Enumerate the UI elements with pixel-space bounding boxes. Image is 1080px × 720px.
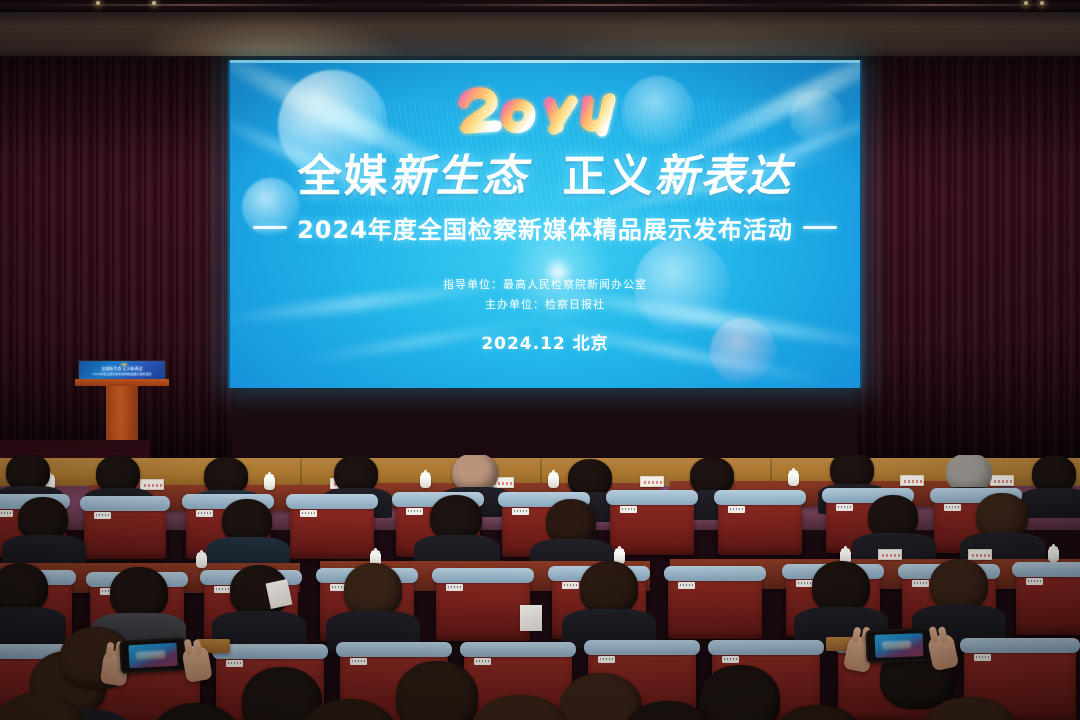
podium-led-display: 全媒新生态 正义新表达 2024年度全国检察新媒体精品展示发布活动 (78, 360, 166, 380)
rig-bar (40, 4, 340, 6)
date-location-line: 2024.12 北京 (443, 329, 647, 354)
title-segment-accent-2: 新表达 (654, 151, 792, 202)
attendee-head (812, 561, 870, 613)
seat-number-plate (974, 654, 991, 661)
seat-number-plate (678, 582, 695, 589)
title-segment-accent-1: 新生态 (390, 151, 528, 202)
teacup (264, 477, 275, 490)
screen-subtitle: 2024年度全国检察新媒体精品展示发布活动 (297, 210, 793, 245)
attendee-head (930, 559, 988, 611)
attendee-head (396, 661, 478, 720)
auditorium-seat (1016, 569, 1080, 635)
teacup (1048, 549, 1059, 562)
screen-main-title: 全媒新生态 正义新表达 (298, 140, 793, 204)
rig-bar (420, 4, 780, 6)
auditorium-seat (290, 501, 374, 559)
seat-number-plate (836, 504, 853, 511)
auditorium-seat (436, 575, 530, 641)
seat-headrest (714, 490, 806, 505)
finger (105, 642, 114, 659)
phone-screen (875, 633, 924, 658)
name-placard (900, 475, 924, 486)
seat-number-plate (474, 658, 491, 665)
seat-headrest (286, 494, 378, 509)
attendee-head (700, 665, 780, 720)
seat-number-plate (598, 656, 615, 663)
led-stage-screen: 全媒新生态 正义新表达 2024年度全国检察新媒体精品展示发布活动 指导单位：最… (228, 60, 862, 388)
attendee-shoulders (0, 607, 66, 647)
podium-display-title: 全媒新生态 正义新表达 (79, 366, 165, 371)
seat-headrest (708, 640, 824, 655)
title-segment-1: 全媒 (298, 151, 390, 202)
rig-spotlight (152, 1, 156, 5)
seat-headrest (960, 638, 1080, 653)
name-placard (640, 476, 664, 487)
smartphone-recording-right (865, 628, 932, 663)
teacup (420, 475, 431, 488)
attendee-shoulders (1020, 488, 1080, 518)
seat-number-plate (406, 508, 423, 515)
attendee-head (0, 563, 48, 613)
seat-number-plate (196, 510, 213, 517)
auditorium-seat (718, 497, 802, 555)
seat-headrest (80, 496, 170, 511)
seat-number-plate (1026, 578, 1043, 585)
stage-curtain-right (858, 58, 1080, 458)
seat-number-plate (512, 508, 529, 515)
teacup (196, 555, 207, 568)
smartphone-recording-left (119, 637, 187, 673)
seat-number-plate (562, 582, 579, 589)
podium-top-surface (75, 379, 169, 386)
screen-organiser-block: 指导单位：最高人民检察院新闻办公室 主办单位：检察日报社 2024.12 北京 (443, 275, 647, 354)
seat-number-plate (94, 512, 111, 519)
year-logo-2024 (450, 86, 640, 138)
seat-headrest (664, 566, 766, 581)
subtitle-rule-left (253, 226, 287, 229)
subtitle-rule-right (803, 226, 837, 229)
finger (184, 639, 194, 656)
screen-subtitle-row: 2024年度全国检察新媒体精品展示发布活动 (253, 210, 837, 245)
seat-number-plate (728, 506, 745, 513)
seat-number-plate (214, 586, 231, 593)
auditorium-seat (610, 497, 694, 555)
name-placard (878, 549, 902, 560)
teacup (788, 473, 799, 486)
guidance-unit-line: 指导单位：最高人民检察院新闻办公室 (443, 275, 647, 295)
podium-column (106, 386, 138, 444)
seat-headrest (460, 642, 576, 657)
seat-number-plate (300, 510, 317, 517)
ceiling-lighting-rig (0, 0, 1080, 12)
seat-number-plate (350, 658, 367, 665)
seat-headrest (584, 640, 700, 655)
attendee-head (344, 563, 402, 617)
rig-spotlight (96, 1, 100, 5)
seat-headrest (432, 568, 534, 583)
teacup (548, 475, 559, 488)
curtain-shading (858, 58, 1080, 458)
soffit-light-wash (560, 12, 880, 60)
auditorium-seat (84, 503, 166, 559)
seat-headrest (336, 642, 452, 657)
name-placard (140, 479, 164, 490)
attendee-head (580, 561, 638, 615)
seat-number-plate (620, 506, 637, 513)
soffit-light-wash (150, 12, 410, 60)
audience-area (0, 455, 1080, 720)
rig-spotlight (1024, 1, 1028, 5)
seat-headrest (606, 490, 698, 505)
phone-screen (128, 643, 177, 668)
attendee-head (110, 567, 168, 619)
rig-spotlight (1040, 1, 1044, 5)
seat-number-plate (0, 510, 13, 517)
podium-display-subtitle: 2024年度全国检察新媒体精品展示发布活动 (79, 372, 165, 376)
seat-number-plate (944, 504, 961, 511)
auditorium-seat (668, 573, 762, 639)
seat-headrest (1012, 562, 1080, 577)
name-placard (990, 475, 1014, 486)
seat-number-plate (722, 656, 739, 663)
seat-number-plate (446, 584, 463, 591)
seat-number-plate (796, 580, 813, 587)
conference-hall-photo: 全媒新生态 正义新表达 2024年度全国检察新媒体精品展示发布活动 指导单位：最… (0, 0, 1080, 720)
name-placard (968, 549, 992, 560)
seat-number-plate (912, 580, 929, 587)
title-segment-2: 正义 (562, 151, 654, 202)
host-unit-line: 主办单位：检察日报社 (443, 295, 647, 315)
document-paper (520, 605, 542, 631)
seat-number-plate (226, 660, 243, 667)
